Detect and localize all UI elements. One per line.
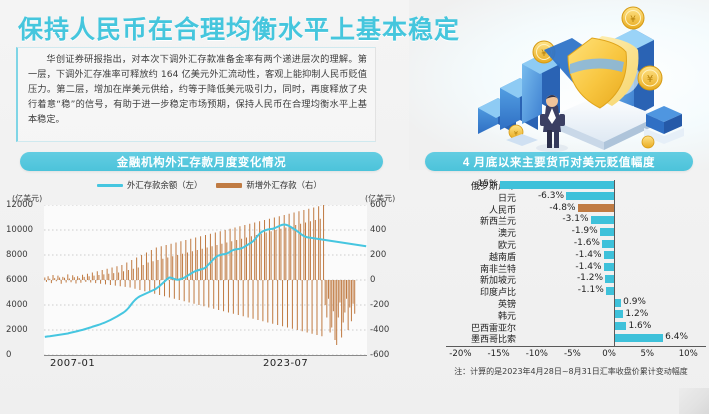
bar-row: 澳元-1.9% — [418, 226, 709, 237]
bar-value-label: -4.8% — [549, 203, 575, 213]
coin-top-icon: ¥ — [622, 7, 644, 29]
right-chart-panel: 俄罗斯卢布-15%日元-6.3%人民币-4.8%新西兰元-3.1%澳元-1.9%… — [418, 176, 709, 414]
right-chart-header: 4 月底以来主要货币对美元贬值幅度 — [425, 152, 693, 171]
hero-illustration: ¥ ¥ — [452, 2, 702, 152]
bar-x-tick: 5% — [640, 349, 654, 359]
legend-label-new: 新增外汇存款（右） — [246, 179, 321, 191]
bar-value-label: -1.1% — [578, 285, 604, 295]
x-axis-label-end: 2023-07 — [263, 358, 308, 369]
coin-right-icon: ¥ — [638, 66, 662, 90]
bar-value-label: -1.2% — [577, 273, 603, 283]
coin-bottom-icon — [642, 136, 654, 148]
lead-paragraph-box: 华创证券研报指出，对本次下调外汇存款准备金率有两个递进层次的理解。第一层，下调外… — [16, 47, 376, 142]
bar-row: 巴西雷亚尔1.6% — [418, 321, 709, 332]
svg-text:¥: ¥ — [630, 15, 636, 25]
bar-row: 南非兰特-1.4% — [418, 262, 709, 273]
bar-segment — [606, 287, 614, 295]
legend-item-new: 新增外汇存款（右） — [216, 179, 321, 191]
bar-value-label: -1.9% — [572, 226, 598, 236]
bar-row: 英镑0.9% — [418, 297, 709, 308]
bar-row: 韩元1.2% — [418, 309, 709, 320]
left-chart-panel: 外汇存款余额（左） 新增外汇存款（右） (亿美元) (亿美元) 02000400… — [0, 176, 410, 381]
left-y-tick: 12000 — [6, 200, 42, 210]
bar-segment — [614, 334, 663, 342]
bar-x-tick: -10% — [526, 349, 548, 359]
left-y-tick: 4000 — [6, 300, 42, 310]
left-y-tick: 2000 — [6, 325, 42, 335]
bar-segment — [604, 251, 615, 259]
zero-axis-line — [614, 180, 615, 346]
left-chart-legend: 外汇存款余额（左） 新增外汇存款（右） — [97, 179, 322, 191]
bar-segment — [604, 263, 615, 271]
left-chart-header: 金融机构外汇存款月度变化情况 — [20, 152, 383, 171]
right-y-tick: 0 — [370, 275, 410, 285]
left-y-tick: 6000 — [6, 275, 42, 285]
svg-text:¥: ¥ — [647, 74, 653, 85]
bar-row: 新加坡元-1.2% — [418, 273, 709, 284]
left-y-tick: 8000 — [6, 250, 42, 260]
left-y-tick: 0 — [6, 350, 42, 360]
bar-value-label: -1.4% — [575, 250, 601, 260]
bar-segment — [605, 275, 614, 283]
bar-segment — [600, 228, 615, 236]
bar-segment — [602, 240, 614, 248]
bar-value-label: -1.6% — [574, 238, 600, 248]
right-y-tick: 400 — [370, 225, 410, 235]
corner-fold-decoration — [679, 388, 709, 414]
bar-segment — [614, 310, 623, 318]
legend-bar-swatch-icon — [216, 183, 242, 188]
left-chart-svg — [44, 205, 367, 355]
legend-item-balance: 外汇存款余额（左） — [97, 179, 202, 191]
bar-value-label: -1.4% — [575, 262, 601, 272]
left-chart-plot-area — [44, 205, 367, 356]
bar-x-tick: -15% — [488, 349, 510, 359]
bar-row: 墨西哥比索6.4% — [418, 332, 709, 343]
right-y-tick: -200 — [370, 300, 410, 310]
bar-value-label: -6.3% — [538, 191, 564, 201]
bar-x-tick: -20% — [449, 349, 471, 359]
bar-segment — [614, 299, 621, 307]
bar-row: 俄罗斯卢布-15% — [418, 179, 709, 190]
x-axis-label-start: 2007-01 — [50, 358, 95, 369]
right-y-tick: 200 — [370, 250, 410, 260]
bar-value-label: -15% — [474, 179, 497, 189]
bar-value-label: 1.6% — [628, 321, 651, 331]
bar-value-label: 6.4% — [665, 332, 688, 342]
bar-row: 日元-6.3% — [418, 191, 709, 202]
bar-x-tick: 0% — [602, 349, 616, 359]
bar-value-label: -3.1% — [562, 214, 588, 224]
legend-label-balance: 外汇存款余额（左） — [127, 179, 202, 191]
bar-row: 新西兰元-3.1% — [418, 214, 709, 225]
left-y-tick: 10000 — [6, 225, 42, 235]
bar-row: 越南盾-1.4% — [418, 250, 709, 261]
right-y-tick: -600 — [370, 350, 410, 360]
bar-value-label: 0.9% — [623, 297, 646, 307]
bar-row: 印度卢比-1.1% — [418, 285, 709, 296]
bar-row: 人民币-4.8% — [418, 203, 709, 214]
lead-paragraph: 华创证券研报指出，对本次下调外汇存款准备金率有两个递进层次的理解。第一层，下调外… — [28, 53, 367, 128]
bar-x-tick: 10% — [679, 349, 698, 359]
page-title: 保持人民币在合理均衡水平上基本稳定 — [18, 10, 460, 46]
bar-category-label: 墨西哥比索 — [471, 332, 516, 345]
bar-segment — [566, 192, 614, 200]
bar-segment — [614, 322, 626, 330]
bar-value-label: 1.2% — [625, 309, 648, 319]
bar-x-tick: -5% — [564, 349, 581, 359]
chart-note: 注：计算的是2023年4月28日~8月31日汇率收盘价累计变动幅度 — [432, 366, 709, 377]
bar-row: 欧元-1.6% — [418, 238, 709, 249]
right-y-tick: 600 — [370, 200, 410, 210]
bar-segment — [500, 181, 615, 189]
infographic-root: ¥ ¥ — [0, 0, 709, 414]
right-y-tick: -400 — [370, 325, 410, 335]
legend-line-swatch-icon — [97, 184, 123, 187]
bar-segment — [578, 204, 615, 212]
bar-segment — [591, 216, 615, 224]
bar-chart-x-axis — [446, 346, 706, 347]
